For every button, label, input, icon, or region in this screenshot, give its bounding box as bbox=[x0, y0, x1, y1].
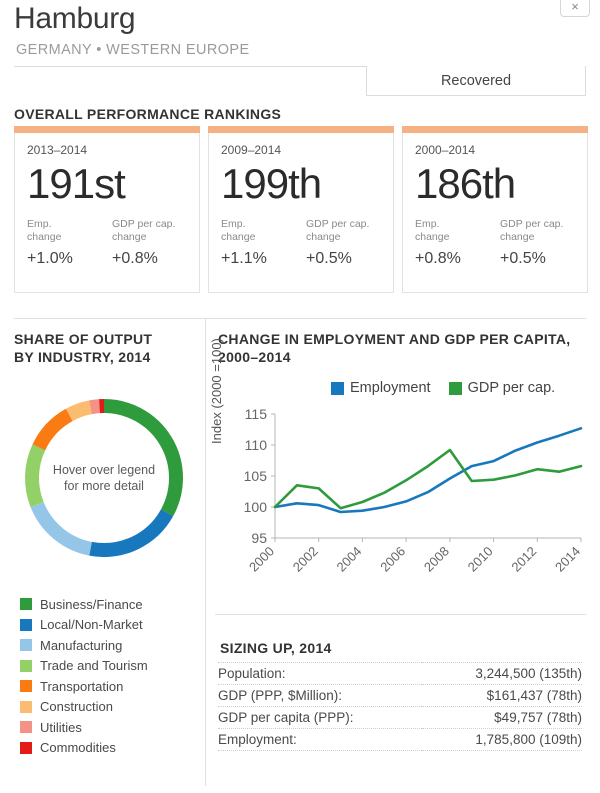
sizing-row-label: Employment: bbox=[218, 729, 422, 751]
card-rank-value: 191st bbox=[27, 158, 187, 210]
sizing-row-value: $49,757 (78th) bbox=[422, 707, 582, 729]
legend-item[interactable]: Business/Finance bbox=[20, 594, 148, 615]
line-chart-heading: CHANGE IN EMPLOYMENT AND GDP PER CAPITA,… bbox=[218, 330, 588, 366]
x-tick-label: 2012 bbox=[508, 544, 539, 575]
legend-item-label: Business/Finance bbox=[40, 597, 143, 612]
legend-swatch-icon bbox=[20, 639, 32, 651]
metric-gdp-change: GDP per cap. change +0.8% bbox=[112, 218, 187, 268]
x-tick-label: 2004 bbox=[333, 544, 364, 575]
table-row: GDP (PPP, $Million):$161,437 (78th) bbox=[218, 685, 582, 707]
metric-value: +1.0% bbox=[27, 250, 102, 268]
legend-item[interactable]: Manufacturing bbox=[20, 635, 148, 656]
chart-line-series[interactable] bbox=[275, 450, 581, 508]
sizing-row-label: GDP per capita (PPP): bbox=[218, 707, 422, 729]
metric-value: +0.8% bbox=[112, 250, 187, 268]
sizing-up-heading: SIZING UP, 2014 bbox=[220, 640, 332, 656]
card-rank-value: 186th bbox=[415, 158, 575, 210]
metric-label-line2: change bbox=[27, 231, 102, 244]
line-legend-swatch-icon bbox=[331, 382, 344, 395]
metric-emp-change: Emp. change +1.0% bbox=[27, 218, 102, 268]
city-profile-panel: × Hamburg GERMANY • WESTERN EUROPE Recov… bbox=[0, 0, 600, 793]
metric-value: +0.5% bbox=[500, 250, 575, 268]
metric-label-line2: change bbox=[112, 231, 187, 244]
panel-divider-vertical bbox=[205, 318, 206, 786]
table-row: GDP per capita (PPP):$49,757 (78th) bbox=[218, 707, 582, 729]
line-legend-item[interactable]: Employment bbox=[331, 380, 431, 396]
donut-heading: SHARE OF OUTPUT BY INDUSTRY, 2014 bbox=[14, 330, 199, 366]
industry-donut-chart: Hover over legend for more detail bbox=[18, 392, 190, 564]
legend-item[interactable]: Transportation bbox=[20, 676, 148, 697]
sizing-row-value: $161,437 (78th) bbox=[422, 685, 582, 707]
metric-label-line1: Emp. bbox=[27, 218, 102, 231]
y-tick-label: 110 bbox=[245, 437, 268, 453]
y-axis-title: Index (2000 =100) bbox=[209, 338, 224, 444]
rankings-cards: 2013–2014 191st Emp. change +1.0% GDP pe… bbox=[14, 133, 586, 293]
line-chart-svg: 9510010511011520002002200420062008201020… bbox=[213, 380, 591, 580]
rankings-heading: OVERALL PERFORMANCE RANKINGS bbox=[14, 106, 281, 122]
legend-item[interactable]: Commodities bbox=[20, 738, 148, 759]
table-row: Employment:1,785,800 (109th) bbox=[218, 729, 582, 751]
legend-swatch-icon bbox=[20, 721, 32, 733]
industry-legend: Business/FinanceLocal/Non-MarketManufact… bbox=[20, 594, 148, 758]
legend-item[interactable]: Trade and Tourism bbox=[20, 656, 148, 677]
legend-item-label: Commodities bbox=[40, 740, 116, 755]
legend-item-label: Local/Non-Market bbox=[40, 617, 143, 632]
legend-item[interactable]: Local/Non-Market bbox=[20, 615, 148, 636]
right-panel-divider bbox=[215, 614, 586, 615]
sizing-row-label: GDP (PPP, $Million): bbox=[218, 685, 422, 707]
legend-swatch-icon bbox=[20, 742, 32, 754]
legend-item-label: Transportation bbox=[40, 679, 123, 694]
metric-emp-change: Emp. change +1.1% bbox=[221, 218, 296, 268]
ranking-card: 2000–2014 186th Emp. change +0.8% GDP pe… bbox=[402, 133, 588, 293]
legend-item[interactable]: Construction bbox=[20, 697, 148, 718]
metric-gdp-change: GDP per cap. change +0.5% bbox=[306, 218, 381, 268]
legend-item[interactable]: Utilities bbox=[20, 717, 148, 738]
metric-value: +0.5% bbox=[306, 250, 381, 268]
y-tick-label: 115 bbox=[245, 406, 268, 422]
line-legend-item[interactable]: GDP per cap. bbox=[449, 380, 556, 396]
section-divider-horizontal bbox=[14, 318, 586, 319]
metric-label-line2: change bbox=[306, 231, 381, 244]
card-accent-bar bbox=[402, 126, 588, 133]
ranking-card: 2013–2014 191st Emp. change +1.0% GDP pe… bbox=[14, 133, 200, 293]
x-tick-label: 2006 bbox=[377, 544, 408, 575]
card-accent-bar bbox=[14, 126, 200, 133]
metric-label-line1: Emp. bbox=[415, 218, 490, 231]
card-year-range: 2009–2014 bbox=[221, 143, 381, 157]
y-tick-label: 105 bbox=[244, 468, 268, 484]
ranking-card: 2009–2014 199th Emp. change +1.1% GDP pe… bbox=[208, 133, 394, 293]
table-row: Population:3,244,500 (135th) bbox=[218, 663, 582, 685]
donut-segment[interactable] bbox=[91, 513, 168, 550]
card-year-range: 2013–2014 bbox=[27, 143, 187, 157]
line-legend-label: GDP per cap. bbox=[468, 380, 556, 396]
card-year-range: 2000–2014 bbox=[415, 143, 575, 157]
x-tick-label: 2014 bbox=[552, 544, 583, 575]
metric-label-line1: GDP per cap. bbox=[112, 218, 187, 231]
legend-swatch-icon bbox=[20, 619, 32, 631]
legend-item-label: Construction bbox=[40, 699, 113, 714]
metric-label-line1: GDP per cap. bbox=[500, 218, 575, 231]
sizing-row-value: 1,785,800 (109th) bbox=[422, 729, 582, 751]
metric-value: +1.1% bbox=[221, 250, 296, 268]
legend-item-label: Manufacturing bbox=[40, 638, 122, 653]
metric-label-line2: change bbox=[221, 231, 296, 244]
donut-segment[interactable] bbox=[32, 447, 39, 504]
metric-emp-change: Emp. change +0.8% bbox=[415, 218, 490, 268]
x-tick-label: 2008 bbox=[421, 544, 452, 575]
donut-heading-line2: BY INDUSTRY, 2014 bbox=[14, 348, 199, 366]
sizing-row-value: 3,244,500 (135th) bbox=[422, 663, 582, 685]
chart-axes bbox=[275, 414, 581, 538]
legend-item-label: Trade and Tourism bbox=[40, 658, 148, 673]
donut-segment[interactable] bbox=[37, 505, 90, 549]
tab-recovered[interactable]: Recovered bbox=[366, 66, 586, 96]
metric-gdp-change: GDP per cap. change +0.5% bbox=[500, 218, 575, 268]
donut-segment[interactable] bbox=[91, 406, 100, 407]
line-legend-label: Employment bbox=[350, 380, 431, 396]
donut-center-hint: Hover over legend for more detail bbox=[45, 462, 163, 494]
legend-swatch-icon bbox=[20, 660, 32, 672]
line-chart-legend: EmploymentGDP per cap. bbox=[331, 380, 555, 396]
donut-segment[interactable] bbox=[39, 415, 69, 447]
legend-swatch-icon bbox=[20, 680, 32, 692]
sizing-row-label: Population: bbox=[218, 663, 422, 685]
sizing-up-table: Population:3,244,500 (135th)GDP (PPP, $M… bbox=[218, 662, 582, 751]
legend-item-label: Utilities bbox=[40, 720, 82, 735]
donut-segment[interactable] bbox=[69, 407, 90, 415]
region-subtitle: GERMANY • WESTERN EUROPE bbox=[16, 42, 250, 58]
x-tick-label: 2010 bbox=[465, 544, 496, 575]
close-icon[interactable]: × bbox=[560, 0, 590, 17]
y-tick-label: 95 bbox=[251, 530, 267, 546]
donut-heading-line1: SHARE OF OUTPUT bbox=[14, 330, 199, 348]
page-title: Hamburg bbox=[14, 2, 135, 36]
x-tick-label: 2000 bbox=[246, 544, 277, 575]
employment-gdp-chart: EmploymentGDP per cap. Index (2000 =100)… bbox=[213, 380, 591, 580]
donut-segment[interactable] bbox=[104, 406, 176, 513]
metric-label-line2: change bbox=[415, 231, 490, 244]
legend-swatch-icon bbox=[20, 598, 32, 610]
card-rank-value: 199th bbox=[221, 158, 381, 210]
donut-hint-line1: Hover over legend bbox=[45, 462, 163, 478]
x-tick-label: 2002 bbox=[290, 544, 321, 575]
donut-hint-line2: for more detail bbox=[45, 478, 163, 494]
card-accent-bar bbox=[208, 126, 394, 133]
y-tick-label: 100 bbox=[244, 499, 268, 515]
metric-label-line1: Emp. bbox=[221, 218, 296, 231]
metric-label-line1: GDP per cap. bbox=[306, 218, 381, 231]
line-legend-swatch-icon bbox=[449, 382, 462, 395]
legend-swatch-icon bbox=[20, 701, 32, 713]
metric-label-line2: change bbox=[500, 231, 575, 244]
metric-value: +0.8% bbox=[415, 250, 490, 268]
